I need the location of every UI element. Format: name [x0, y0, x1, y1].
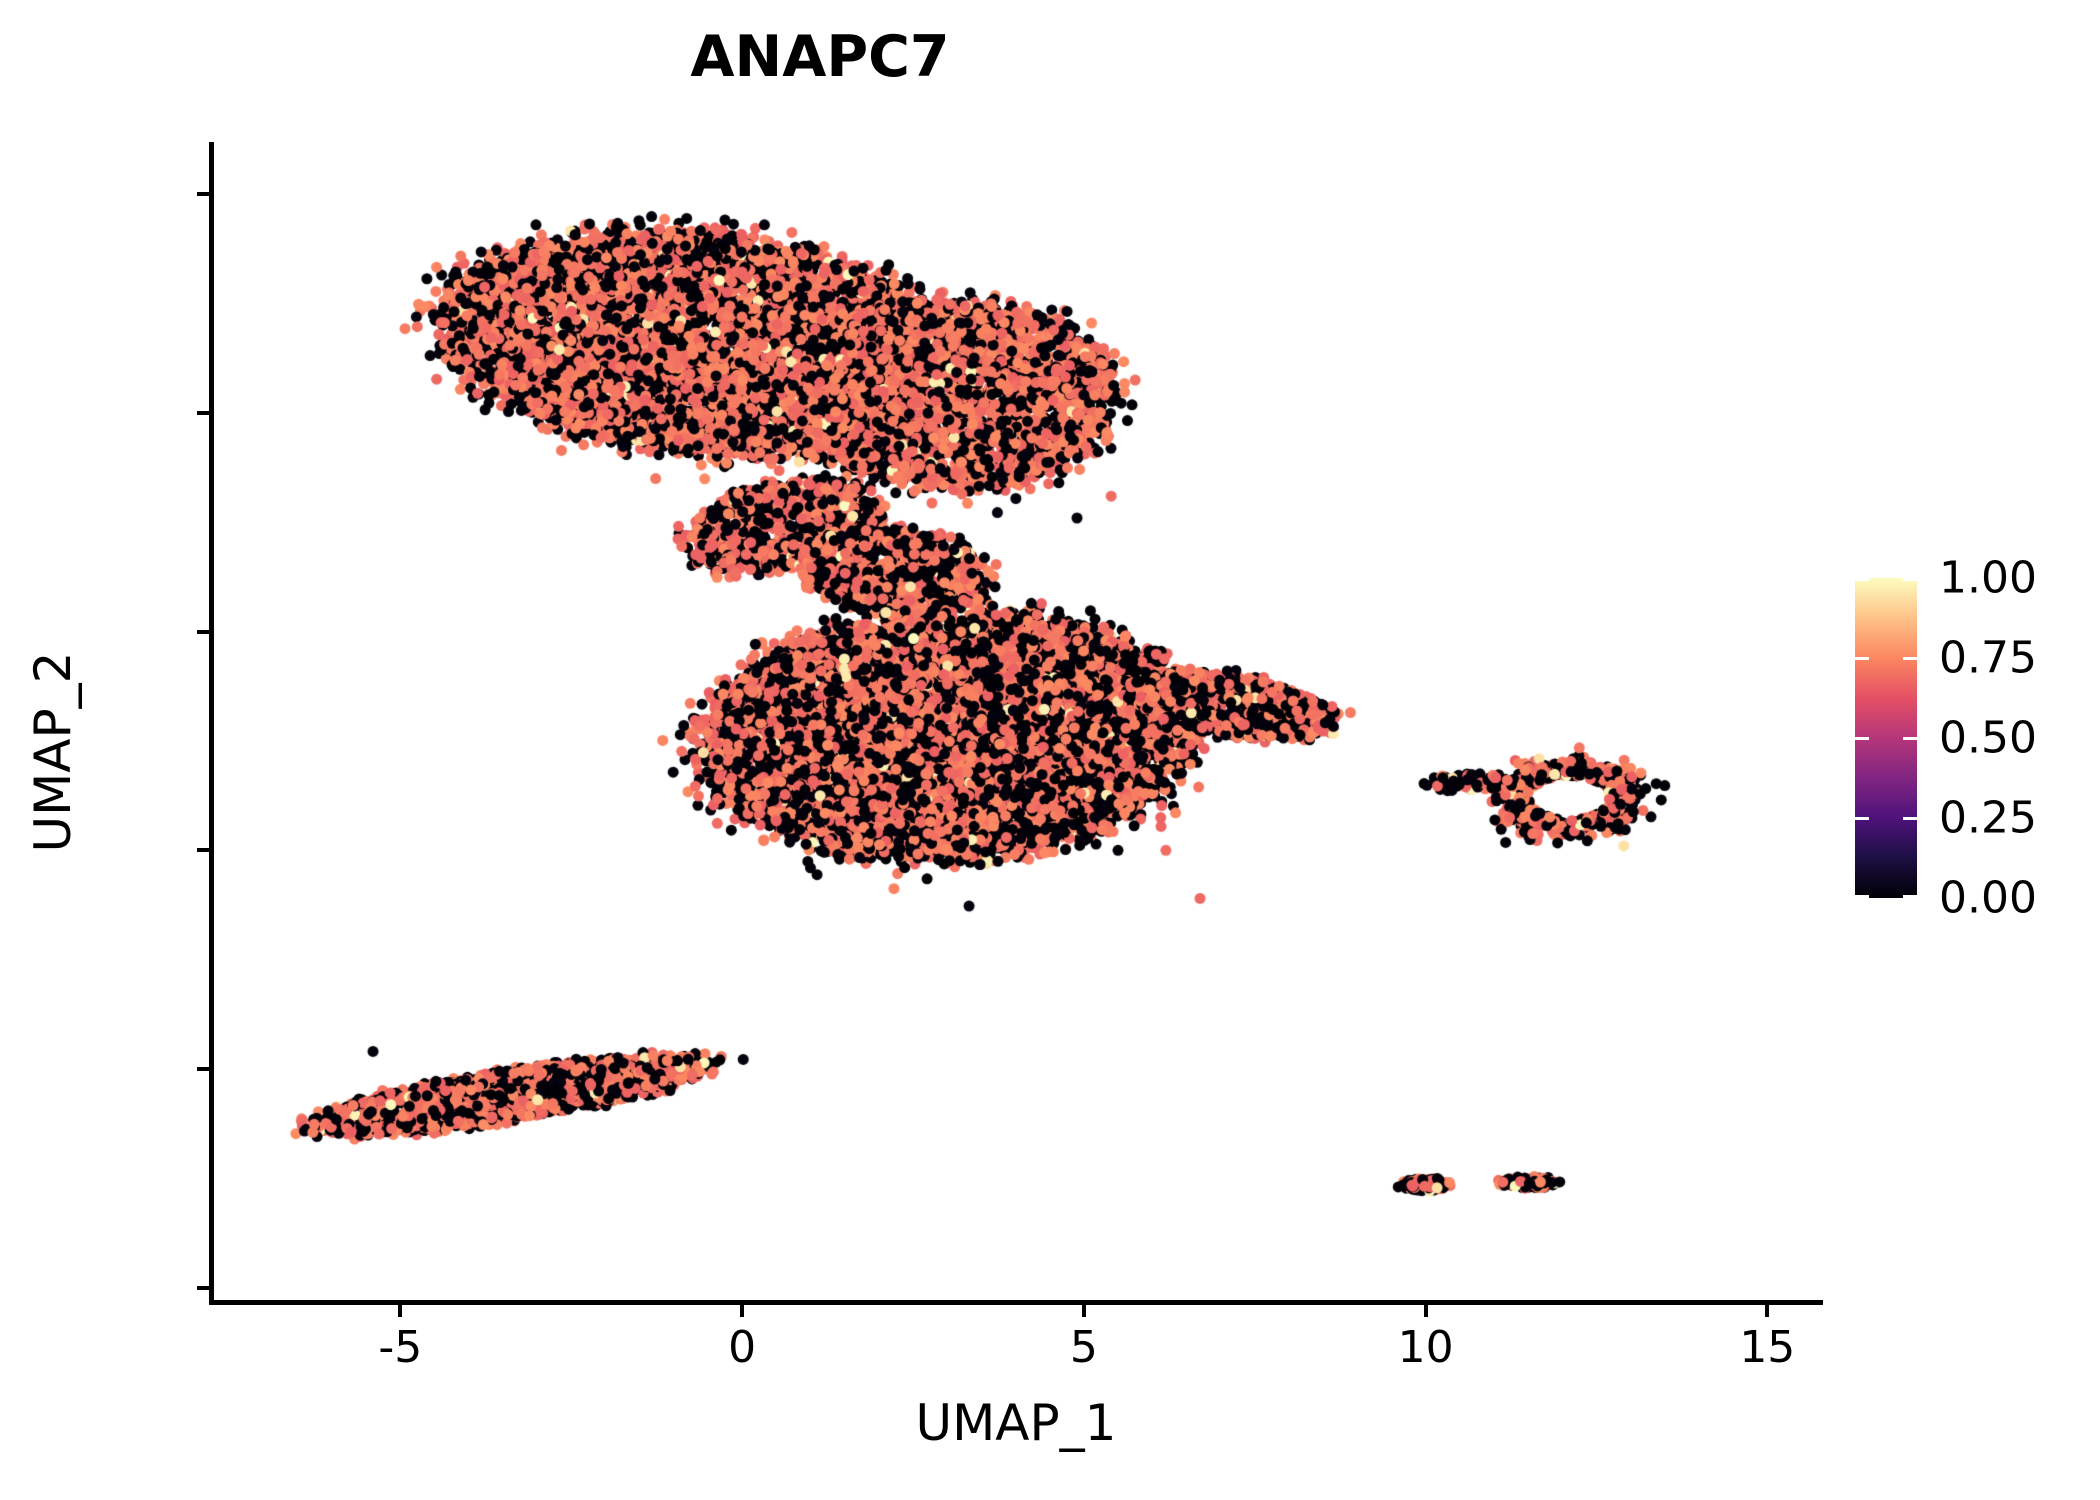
colorbar-tick-mark — [1903, 578, 1917, 581]
colorbar-tick-mark — [1855, 657, 1869, 660]
y-axis-spine — [209, 142, 214, 1305]
colorbar-tick-mark — [1855, 578, 1869, 581]
colorbar-tick-label: 0.50 — [1939, 713, 2037, 764]
x-tick-mark — [1082, 1305, 1086, 1317]
colorbar-tick-label: 0.00 — [1939, 873, 2037, 924]
colorbar-tick-mark — [1903, 737, 1917, 740]
x-tick-label: 0 — [728, 1322, 756, 1373]
x-tick-label: 15 — [1739, 1322, 1795, 1373]
y-axis-label: UMAP_2 — [24, 402, 82, 1102]
x-tick-label: 5 — [1070, 1322, 1098, 1373]
x-tick-label: 10 — [1398, 1322, 1454, 1373]
x-tick-mark — [398, 1305, 402, 1317]
x-tick-mark — [740, 1305, 744, 1317]
y-tick-mark — [197, 1067, 209, 1071]
y-tick-mark — [197, 1286, 209, 1290]
y-tick-mark — [197, 192, 209, 196]
colorbar-legend: 0.000.250.500.751.00 — [1855, 578, 2085, 908]
x-axis-spine — [209, 1300, 1823, 1305]
scatter-plot-axes — [209, 142, 1822, 1305]
colorbar-tick-label: 0.25 — [1939, 793, 2037, 844]
y-tick-mark — [197, 848, 209, 852]
page-title: ANAPC7 — [0, 24, 1640, 90]
x-tick-mark — [1424, 1305, 1428, 1317]
scatter-points-canvas — [209, 142, 1822, 1305]
colorbar-tick-mark — [1855, 895, 1869, 898]
colorbar-tick-mark — [1903, 817, 1917, 820]
x-axis-label: UMAP_1 — [209, 1394, 1823, 1452]
colorbar-tick-mark — [1855, 737, 1869, 740]
colorbar-tick-mark — [1903, 657, 1917, 660]
colorbar-tick-label: 0.75 — [1939, 633, 2037, 684]
colorbar-tick-label: 1.00 — [1939, 553, 2037, 604]
x-tick-label: -5 — [378, 1322, 422, 1373]
y-tick-mark — [197, 630, 209, 634]
umap-figure-panel: ANAPC7 -505101520 -5051015 UMAP_1 UMAP_2… — [0, 0, 2100, 1500]
colorbar-tick-mark — [1855, 817, 1869, 820]
x-tick-mark — [1765, 1305, 1769, 1317]
colorbar-tick-mark — [1903, 895, 1917, 898]
y-tick-mark — [197, 411, 209, 415]
